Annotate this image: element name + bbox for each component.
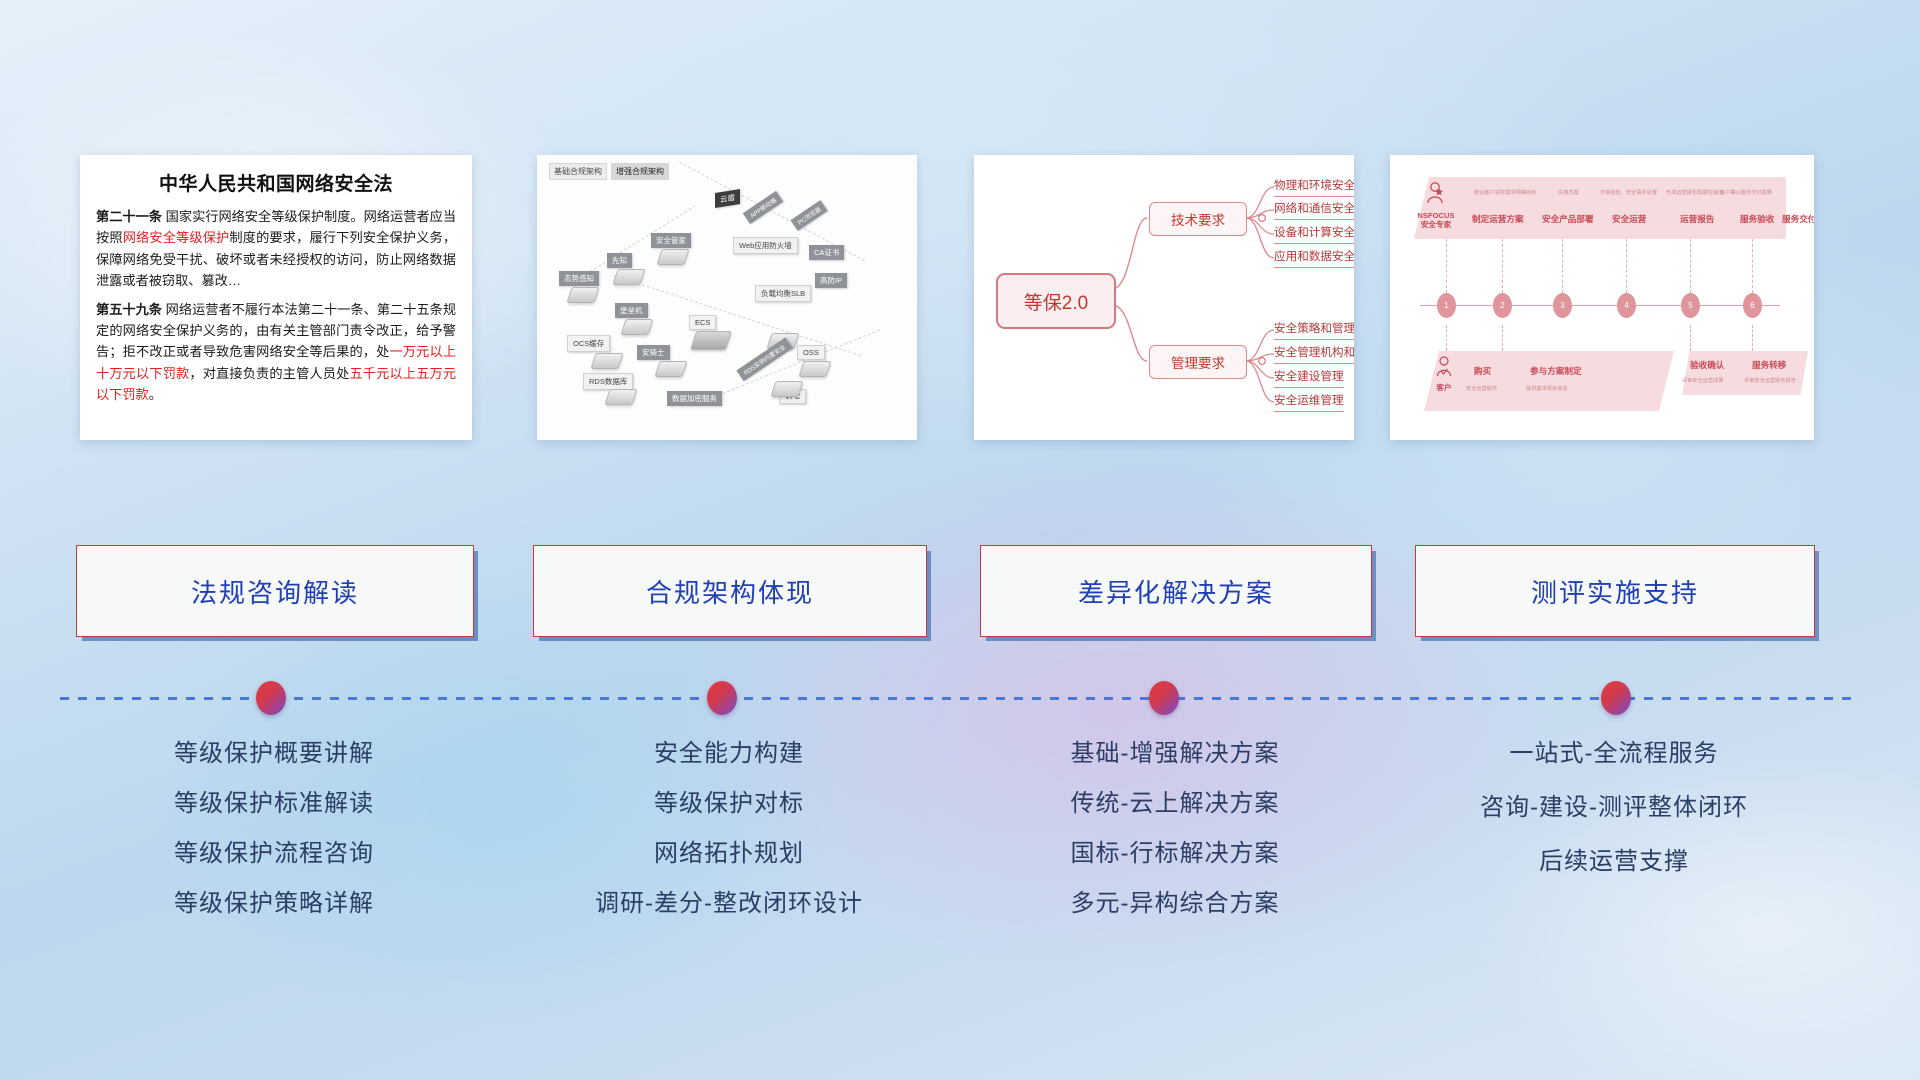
nsfocus-customer-stem-4: [1752, 325, 1753, 351]
nsfocus-step-6-title: 服务交付: [1782, 213, 1814, 225]
law-title: 中华人民共和国网络安全法: [96, 169, 456, 196]
nsfocus-stem-4: [1626, 239, 1627, 293]
list-item: 多元-异构综合方案: [980, 892, 1370, 916]
arch-shape-8: [604, 389, 637, 405]
nsfocus-step-2-sub: 实施方案: [1558, 189, 1579, 196]
list-item: 基础-增强解决方案: [980, 742, 1370, 766]
arch-node-ca: CA证书: [809, 245, 844, 260]
nsfocus-customer-step-3-title: 验收确认: [1690, 359, 1724, 371]
law-card-body: 中华人民共和国网络安全法 第二十一条 国家实行网络安全等级保护制度。网络运营者应…: [80, 155, 472, 440]
pillar-box-2[interactable]: 合规架构体现: [533, 545, 927, 637]
card-mindmap-dengbao: 等保2.0 技术要求 物理和环境安全 网络和通信安全 设备和计算安全 应用和数据…: [974, 155, 1354, 440]
pillar-title-3: 差异化解决方案: [1078, 573, 1274, 610]
mindmap-leaf-physical-env: 物理和环境安全: [1274, 177, 1354, 197]
pillar-box-1[interactable]: 法规咨询解读: [76, 545, 474, 637]
nsfocus-milestone-5: 5: [1681, 293, 1700, 318]
list-item: 等级保护概要讲解: [76, 742, 472, 766]
nsfocus-milestone-4: 4: [1617, 293, 1636, 318]
architecture-diagram: 基础合规架构 增强合规架构 云盾 安全管家 先知 态势感知 堡垒机 安骑士: [537, 155, 917, 440]
list-item: 等级保护对标: [533, 792, 925, 816]
card-cybersecurity-law: 中华人民共和国网络安全法 第二十一条 国家实行网络安全等级保护制度。网络运营者应…: [80, 155, 472, 440]
timeline-marker-4: [1601, 681, 1631, 715]
timeline-marker-3: [1149, 681, 1179, 715]
nsfocus-step-3-sub: 日常巡检、安全事件处置: [1600, 189, 1657, 196]
timeline-marker-2: [707, 681, 737, 715]
mindmap-branch-technical: 技术要求: [1149, 202, 1247, 236]
timeline-dashed-line: [60, 697, 1860, 700]
mindmap-root-node: 等保2.0: [996, 273, 1116, 329]
arch-shape-4: [620, 319, 653, 335]
arch-node-app-mobile: APP移动端: [743, 191, 783, 224]
arch-node-anqishi: 安骑士: [637, 345, 670, 360]
nsfocus-stem-6: [1752, 239, 1753, 293]
nsfocus-customer-band-right: [1682, 351, 1808, 395]
nsfocus-axis: [1420, 305, 1780, 306]
nsfocus-customer-step-3-sub: 评审安全运营成果: [1682, 377, 1724, 384]
arch-shape-3: [566, 287, 599, 303]
list-item: 传统-云上解决方案: [980, 792, 1370, 816]
list-item: 安全能力构建: [533, 742, 925, 766]
list-item: 咨询-建设-测评整体闭环: [1415, 796, 1813, 820]
top-cards-row: 中华人民共和国网络安全法 第二十一条 国家实行网络安全等级保护制度。网络运营者应…: [0, 150, 1920, 440]
list-item: 调研-差分-整改闭环设计: [533, 892, 925, 916]
nsfocus-brand-line2: 安全专家: [1416, 220, 1456, 229]
pillar-title-4: 测评实施支持: [1531, 573, 1699, 610]
law-article-21: 第二十一条 国家实行网络安全等级保护制度。网络运营者应当按照网络安全等级保护制度…: [96, 206, 456, 292]
arch-node-ocs: OCS缓存: [567, 335, 610, 352]
pillar-box-3[interactable]: 差异化解决方案: [980, 545, 1372, 637]
arch-node-encryption: 数据加密服务: [667, 391, 722, 406]
list-item: 网络拓扑规划: [533, 842, 925, 866]
nsfocus-customer-step-2-title: 参与方案制定: [1530, 365, 1582, 377]
nsfocus-stem-2: [1502, 239, 1503, 293]
nsfocus-expert-band: [1414, 177, 1786, 239]
nsfocus-customer-step-2-sub: 提供基本现状信息: [1526, 385, 1568, 392]
nsfocus-stem-5: [1690, 239, 1691, 293]
card-compliance-architecture: 基础合规架构 增强合规架构 云盾 安全管家 先知 态势感知 堡垒机 安骑士: [537, 155, 917, 440]
nsfocus-customer-step-4-sub: 评审安全运营服务报告: [1744, 377, 1796, 384]
list-item: 等级保护标准解读: [76, 792, 472, 816]
nsfocus-stem-1: [1446, 239, 1447, 293]
nsfocus-customer-band: [1424, 351, 1674, 411]
arch-shape-5: [654, 361, 687, 377]
mindmap-leaf-app-data: 应用和数据安全: [1274, 248, 1354, 268]
arch-node-yundun: 云盾: [715, 189, 740, 208]
nsfocus-customer-step-1-sub: 安全运营服务: [1466, 385, 1497, 392]
list-item: 一站式-全流程服务: [1415, 742, 1813, 766]
feature-column-3: 基础-增强解决方案 传统-云上解决方案 国标-行标解决方案 多元-异构综合方案: [980, 742, 1370, 942]
nsfocus-step-5-sub: 客户确认服务交付成果: [1720, 189, 1772, 196]
arch-node-oss: OSS: [797, 345, 825, 360]
feature-column-2: 安全能力构建 等级保护对标 网络拓扑规划 调研-差分-整改闭环设计: [533, 742, 925, 942]
arch-node-security-butler: 安全管家: [651, 233, 691, 248]
nsfocus-step-4-title: 运营报告: [1680, 213, 1714, 225]
list-item: 等级保护流程咨询: [76, 842, 472, 866]
feature-column-1: 等级保护概要讲解 等级保护标准解读 等级保护流程咨询 等级保护策略详解: [76, 742, 472, 942]
nsfocus-step-3-title: 安全运营: [1612, 213, 1646, 225]
nsfocus-customer-stem-1: [1446, 325, 1447, 351]
arch-node-xianzhi: 先知: [607, 253, 632, 268]
list-item: 国标-行标解决方案: [980, 842, 1370, 866]
law-article-59-text-c: 。: [149, 387, 162, 402]
card-nsfocus-service-timeline: NSFOCUS 安全专家 结合客户实际需求明确目标 制定运营方案 实施方案 安全…: [1390, 155, 1814, 440]
arch-node-ecs: ECS: [689, 315, 716, 330]
mindmap-leaf-ops-mgmt: 安全运维管理: [1274, 392, 1344, 412]
arch-shape-7: [590, 353, 623, 369]
arch-shape-10: [770, 381, 803, 397]
nsfocus-step-1-sub: 结合客户实际需求明确目标: [1474, 189, 1536, 196]
mindmap-leaf-network-comm: 网络和通信安全: [1274, 200, 1354, 220]
nsfocus-milestone-1: 1: [1437, 293, 1456, 318]
nsfocus-diagram: NSFOCUS 安全专家 结合客户实际需求明确目标 制定运营方案 实施方案 安全…: [1390, 155, 1814, 440]
nsfocus-brand: NSFOCUS 安全专家: [1416, 211, 1456, 230]
architecture-canvas: 云盾 安全管家 先知 态势感知 堡垒机 安骑士 ECS Web应用防火墙 负载均…: [547, 175, 907, 432]
timeline-marker-1: [256, 681, 286, 715]
arch-shape-2: [612, 269, 645, 285]
pillar-title-2: 合规架构体现: [646, 573, 814, 610]
nsfocus-step-4-sub: 形成运营报告周期性输出: [1666, 189, 1723, 196]
arch-shape-1: [656, 249, 689, 265]
nsfocus-milestone-2: 2: [1493, 293, 1512, 318]
arch-node-slb: 负载均衡SLB: [755, 285, 811, 302]
nsfocus-step-5-title: 服务验收: [1740, 213, 1774, 225]
pillar-title-1: 法规咨询解读: [191, 573, 359, 610]
arch-node-rds: RDS数据库: [583, 373, 633, 390]
arch-node-bastion: 堡垒机: [615, 303, 648, 318]
arch-node-anti-ddos: 高防IP: [815, 273, 847, 288]
nsfocus-stem-3: [1562, 239, 1563, 293]
mindmap-leaf-construction-mgmt: 安全建设管理: [1274, 368, 1344, 388]
list-item: 后续运营支撑: [1415, 850, 1813, 874]
nsfocus-customer-label: 客户: [1430, 383, 1458, 392]
law-article-21-label: 第二十一条: [96, 209, 162, 224]
expert-person-icon: [1424, 181, 1446, 211]
arch-node-waf: Web应用防火墙: [733, 237, 798, 254]
mindmap-leaf-device-compute: 设备和计算安全: [1274, 224, 1354, 244]
arch-node-pc-browser: PC浏览器: [790, 200, 827, 231]
arch-shape-ecs: [690, 331, 732, 350]
feature-column-4: 一站式-全流程服务 咨询-建设-测评整体闭环 后续运营支撑: [1415, 742, 1813, 904]
mindmap-leaf-org-personnel: 安全管理机构和人员: [1274, 344, 1354, 364]
law-article-59-text-b: ，对直接负责的主管人员处: [189, 366, 349, 381]
law-article-21-highlight: 网络安全等级保护: [123, 230, 230, 245]
mindmap: 等保2.0 技术要求 物理和环境安全 网络和通信安全 设备和计算安全 应用和数据…: [974, 155, 1354, 440]
law-article-59-label: 第五十九条: [96, 302, 162, 317]
nsfocus-customer-step-4-title: 服务转移: [1752, 359, 1786, 371]
law-article-59: 第五十九条 网络运营者不履行本法第二十一条、第二十五条规定的网络安全保护义务的，…: [96, 299, 456, 406]
nsfocus-customer-stem-2: [1502, 325, 1503, 351]
pillar-box-4[interactable]: 测评实施支持: [1415, 545, 1815, 637]
nsfocus-customer-stem-3: [1690, 325, 1691, 351]
arch-node-situation-awareness: 态势感知: [559, 271, 599, 286]
customer-person-icon: [1434, 355, 1454, 381]
mindmap-branch-management: 管理要求: [1149, 345, 1247, 379]
nsfocus-step-1-title: 制定运营方案: [1472, 213, 1524, 225]
nsfocus-milestone-6: 6: [1743, 293, 1762, 318]
nsfocus-customer-step-1-title: 购买: [1474, 365, 1491, 377]
mindmap-leaf-policy-system: 安全策略和管理制度: [1274, 320, 1354, 340]
list-item: 等级保护策略详解: [76, 892, 472, 916]
nsfocus-step-2-title: 安全产品部署: [1542, 213, 1594, 225]
arch-shape-9: [798, 361, 831, 377]
nsfocus-milestone-3: 3: [1553, 293, 1572, 318]
